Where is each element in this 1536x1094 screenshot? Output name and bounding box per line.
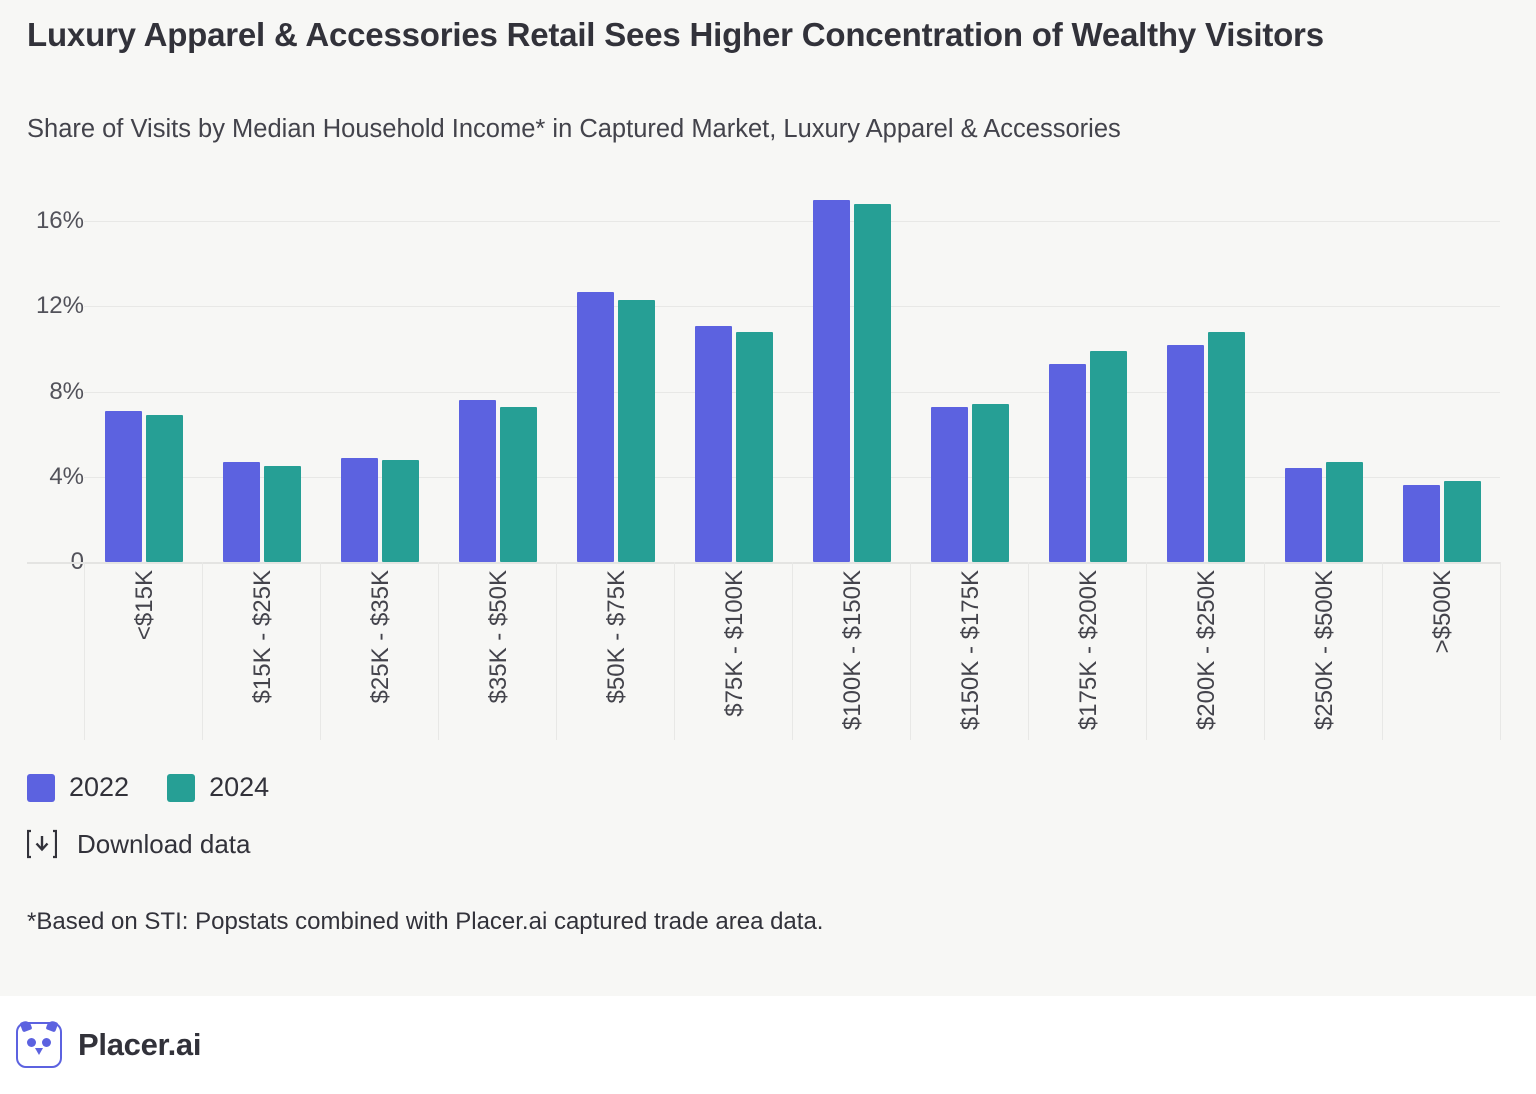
x-axis-tick-label: $175K - $200K bbox=[1075, 570, 1103, 730]
bar-group bbox=[84, 200, 202, 562]
x-axis-tick-label: <$15K bbox=[131, 570, 159, 640]
category-separator bbox=[1264, 562, 1265, 740]
bar-2024[interactable] bbox=[972, 404, 1009, 562]
category-separator bbox=[1500, 562, 1501, 740]
x-axis-tick-label: $35K - $50K bbox=[485, 570, 513, 703]
legend-label: 2024 bbox=[209, 772, 269, 803]
bar-2024[interactable] bbox=[618, 300, 655, 562]
chart-legend: 20222024 bbox=[27, 772, 269, 803]
legend-item-2022[interactable]: 2022 bbox=[27, 772, 129, 803]
brand-name: Placer.ai bbox=[78, 1027, 201, 1063]
bar-group bbox=[1264, 200, 1382, 562]
bar-2024[interactable] bbox=[1326, 462, 1363, 562]
bar-2024[interactable] bbox=[1208, 332, 1245, 562]
download-data-label: Download data bbox=[77, 829, 250, 860]
bar-2022[interactable] bbox=[1285, 468, 1322, 562]
download-data-button[interactable]: Download data bbox=[27, 828, 250, 860]
bar-group bbox=[320, 200, 438, 562]
bar-2024[interactable] bbox=[382, 460, 419, 562]
category-separator bbox=[320, 562, 321, 740]
chart-page: Luxury Apparel & Accessories Retail Sees… bbox=[0, 0, 1536, 1094]
bar-2024[interactable] bbox=[1444, 481, 1481, 562]
bar-2022[interactable] bbox=[105, 411, 142, 562]
x-axis-category-labels: <$15K$15K - $25K$25K - $35K$35K - $50K$5… bbox=[0, 562, 1536, 742]
bar-2022[interactable] bbox=[223, 462, 260, 562]
category-separator bbox=[438, 562, 439, 740]
bar-2022[interactable] bbox=[1403, 485, 1440, 562]
placer-owl-logo-icon bbox=[16, 1022, 62, 1068]
bar-2024[interactable] bbox=[264, 466, 301, 562]
legend-label: 2022 bbox=[69, 772, 129, 803]
y-axis-tick-label: 12% bbox=[0, 292, 84, 320]
chart-card: Luxury Apparel & Accessories Retail Sees… bbox=[0, 0, 1536, 996]
legend-swatch bbox=[167, 774, 195, 802]
bar-group bbox=[1382, 200, 1500, 562]
category-separator bbox=[792, 562, 793, 740]
y-axis-tick-label: 16% bbox=[0, 207, 84, 235]
download-icon bbox=[27, 828, 57, 860]
bar-2024[interactable] bbox=[854, 204, 891, 562]
x-axis-tick-label: $100K - $150K bbox=[839, 570, 867, 730]
bar-group bbox=[1146, 200, 1264, 562]
bar-2024[interactable] bbox=[1090, 351, 1127, 562]
bar-group bbox=[792, 200, 910, 562]
x-axis-tick-label: $75K - $100K bbox=[721, 570, 749, 717]
x-axis-tick-label: $250K - $500K bbox=[1311, 570, 1339, 730]
bar-group bbox=[556, 200, 674, 562]
category-separator bbox=[84, 562, 85, 740]
bar-2024[interactable] bbox=[146, 415, 183, 562]
bar-group bbox=[438, 200, 556, 562]
bar-2024[interactable] bbox=[500, 407, 537, 562]
category-separator bbox=[556, 562, 557, 740]
bar-2022[interactable] bbox=[459, 400, 496, 562]
legend-item-2024[interactable]: 2024 bbox=[167, 772, 269, 803]
category-separator bbox=[1382, 562, 1383, 740]
bar-2022[interactable] bbox=[1167, 345, 1204, 562]
y-axis-tick-label: 4% bbox=[0, 463, 84, 491]
bar-group bbox=[674, 200, 792, 562]
x-axis-tick-label: $50K - $75K bbox=[603, 570, 631, 703]
legend-swatch bbox=[27, 774, 55, 802]
bar-2024[interactable] bbox=[736, 332, 773, 562]
bar-2022[interactable] bbox=[1049, 364, 1086, 562]
category-separator bbox=[1028, 562, 1029, 740]
category-separator bbox=[202, 562, 203, 740]
bar-group bbox=[1028, 200, 1146, 562]
page-title: Luxury Apparel & Accessories Retail Sees… bbox=[27, 12, 1427, 58]
x-axis-tick-label: $200K - $250K bbox=[1193, 570, 1221, 730]
x-axis-tick-label: $15K - $25K bbox=[249, 570, 277, 703]
x-axis-tick-label: $25K - $35K bbox=[367, 570, 395, 703]
chart-subtitle: Share of Visits by Median Household Inco… bbox=[27, 112, 1497, 146]
bar-2022[interactable] bbox=[695, 326, 732, 562]
bar-group bbox=[202, 200, 320, 562]
brand-bar: Placer.ai bbox=[0, 996, 1536, 1094]
bar-2022[interactable] bbox=[813, 200, 850, 562]
bar-2022[interactable] bbox=[931, 407, 968, 562]
x-axis-tick-label: >$500K bbox=[1429, 570, 1457, 653]
bar-2022[interactable] bbox=[577, 292, 614, 562]
x-axis-tick-label: $150K - $175K bbox=[957, 570, 985, 730]
category-separator bbox=[910, 562, 911, 740]
y-axis-tick-label: 8% bbox=[0, 378, 84, 406]
chart-footnote: *Based on STI: Popstats combined with Pl… bbox=[27, 908, 823, 936]
category-separator bbox=[1146, 562, 1147, 740]
bars-layer bbox=[84, 200, 1500, 562]
bar-group bbox=[910, 200, 1028, 562]
category-separator bbox=[674, 562, 675, 740]
bar-2022[interactable] bbox=[341, 458, 378, 562]
